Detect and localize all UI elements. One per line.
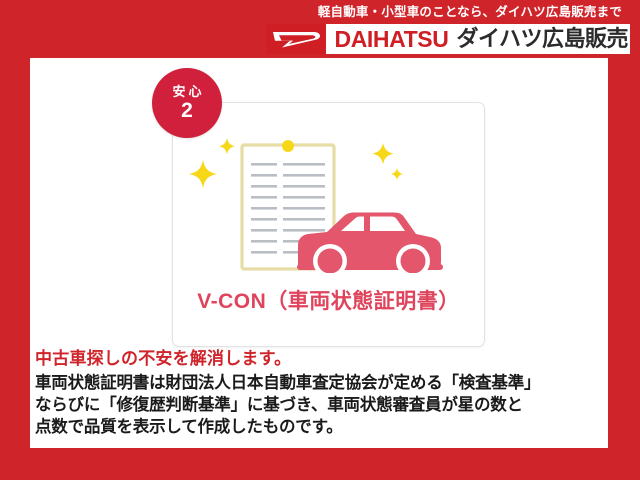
anshin-badge: 安心 2: [152, 68, 222, 138]
header-tagline: 軽自動車・小型車のことなら、ダイハツ広島販売まで: [318, 5, 622, 19]
logo-wordmark: DAIHATSU: [335, 24, 449, 54]
description-line: 車両状態証明書は財団法人日本自動車査定協会が定める「検査基準」: [35, 372, 605, 394]
screenshot-root: 軽自動車・小型車のことなら、ダイハツ広島販売まで DAIHATSU ダイハツ広島…: [0, 0, 640, 480]
header-banner: 軽自動車・小型車のことなら、ダイハツ広島販売まで DAIHATSU ダイハツ広島…: [0, 0, 640, 58]
vcon-illustration: [181, 121, 476, 273]
description-heading: 中古車探しの不安を解消します。: [35, 348, 605, 369]
description-block: 中古車探しの不安を解消します。 車両状態証明書は財団法人日本自動車査定協会が定め…: [35, 348, 605, 438]
brand-logo: DAIHATSU ダイハツ広島販売: [266, 24, 631, 54]
sparkle-icon: [219, 138, 235, 154]
sparkle-icon: [391, 168, 403, 180]
anshin-badge-number: 2: [181, 100, 193, 122]
sparkle-icon: [372, 143, 393, 164]
description-line: ならびに「修復歴判断基準」に基づき、車両状態審査員が星の数と: [35, 394, 605, 416]
daihatsu-d-swoosh-icon: [266, 24, 326, 54]
logo-japanese-name: ダイハツ広島販売: [456, 24, 628, 54]
description-line: 点数で品質を表示して作成したものです。: [35, 416, 605, 438]
vcon-caption: V-CON（車両状態証明書）: [173, 285, 484, 315]
sparkle-icon: [189, 160, 217, 188]
content-page: V-CON（車両状態証明書） 安心 2 中古車探しの不安を解消します。 車両状態…: [30, 58, 608, 448]
description-body: 車両状態証明書は財団法人日本自動車査定協会が定める「検査基準」 ならびに「修復歴…: [35, 372, 605, 438]
anshin-badge-label: 安心: [169, 84, 204, 99]
vcon-card: V-CON（車両状態証明書）: [172, 102, 485, 347]
